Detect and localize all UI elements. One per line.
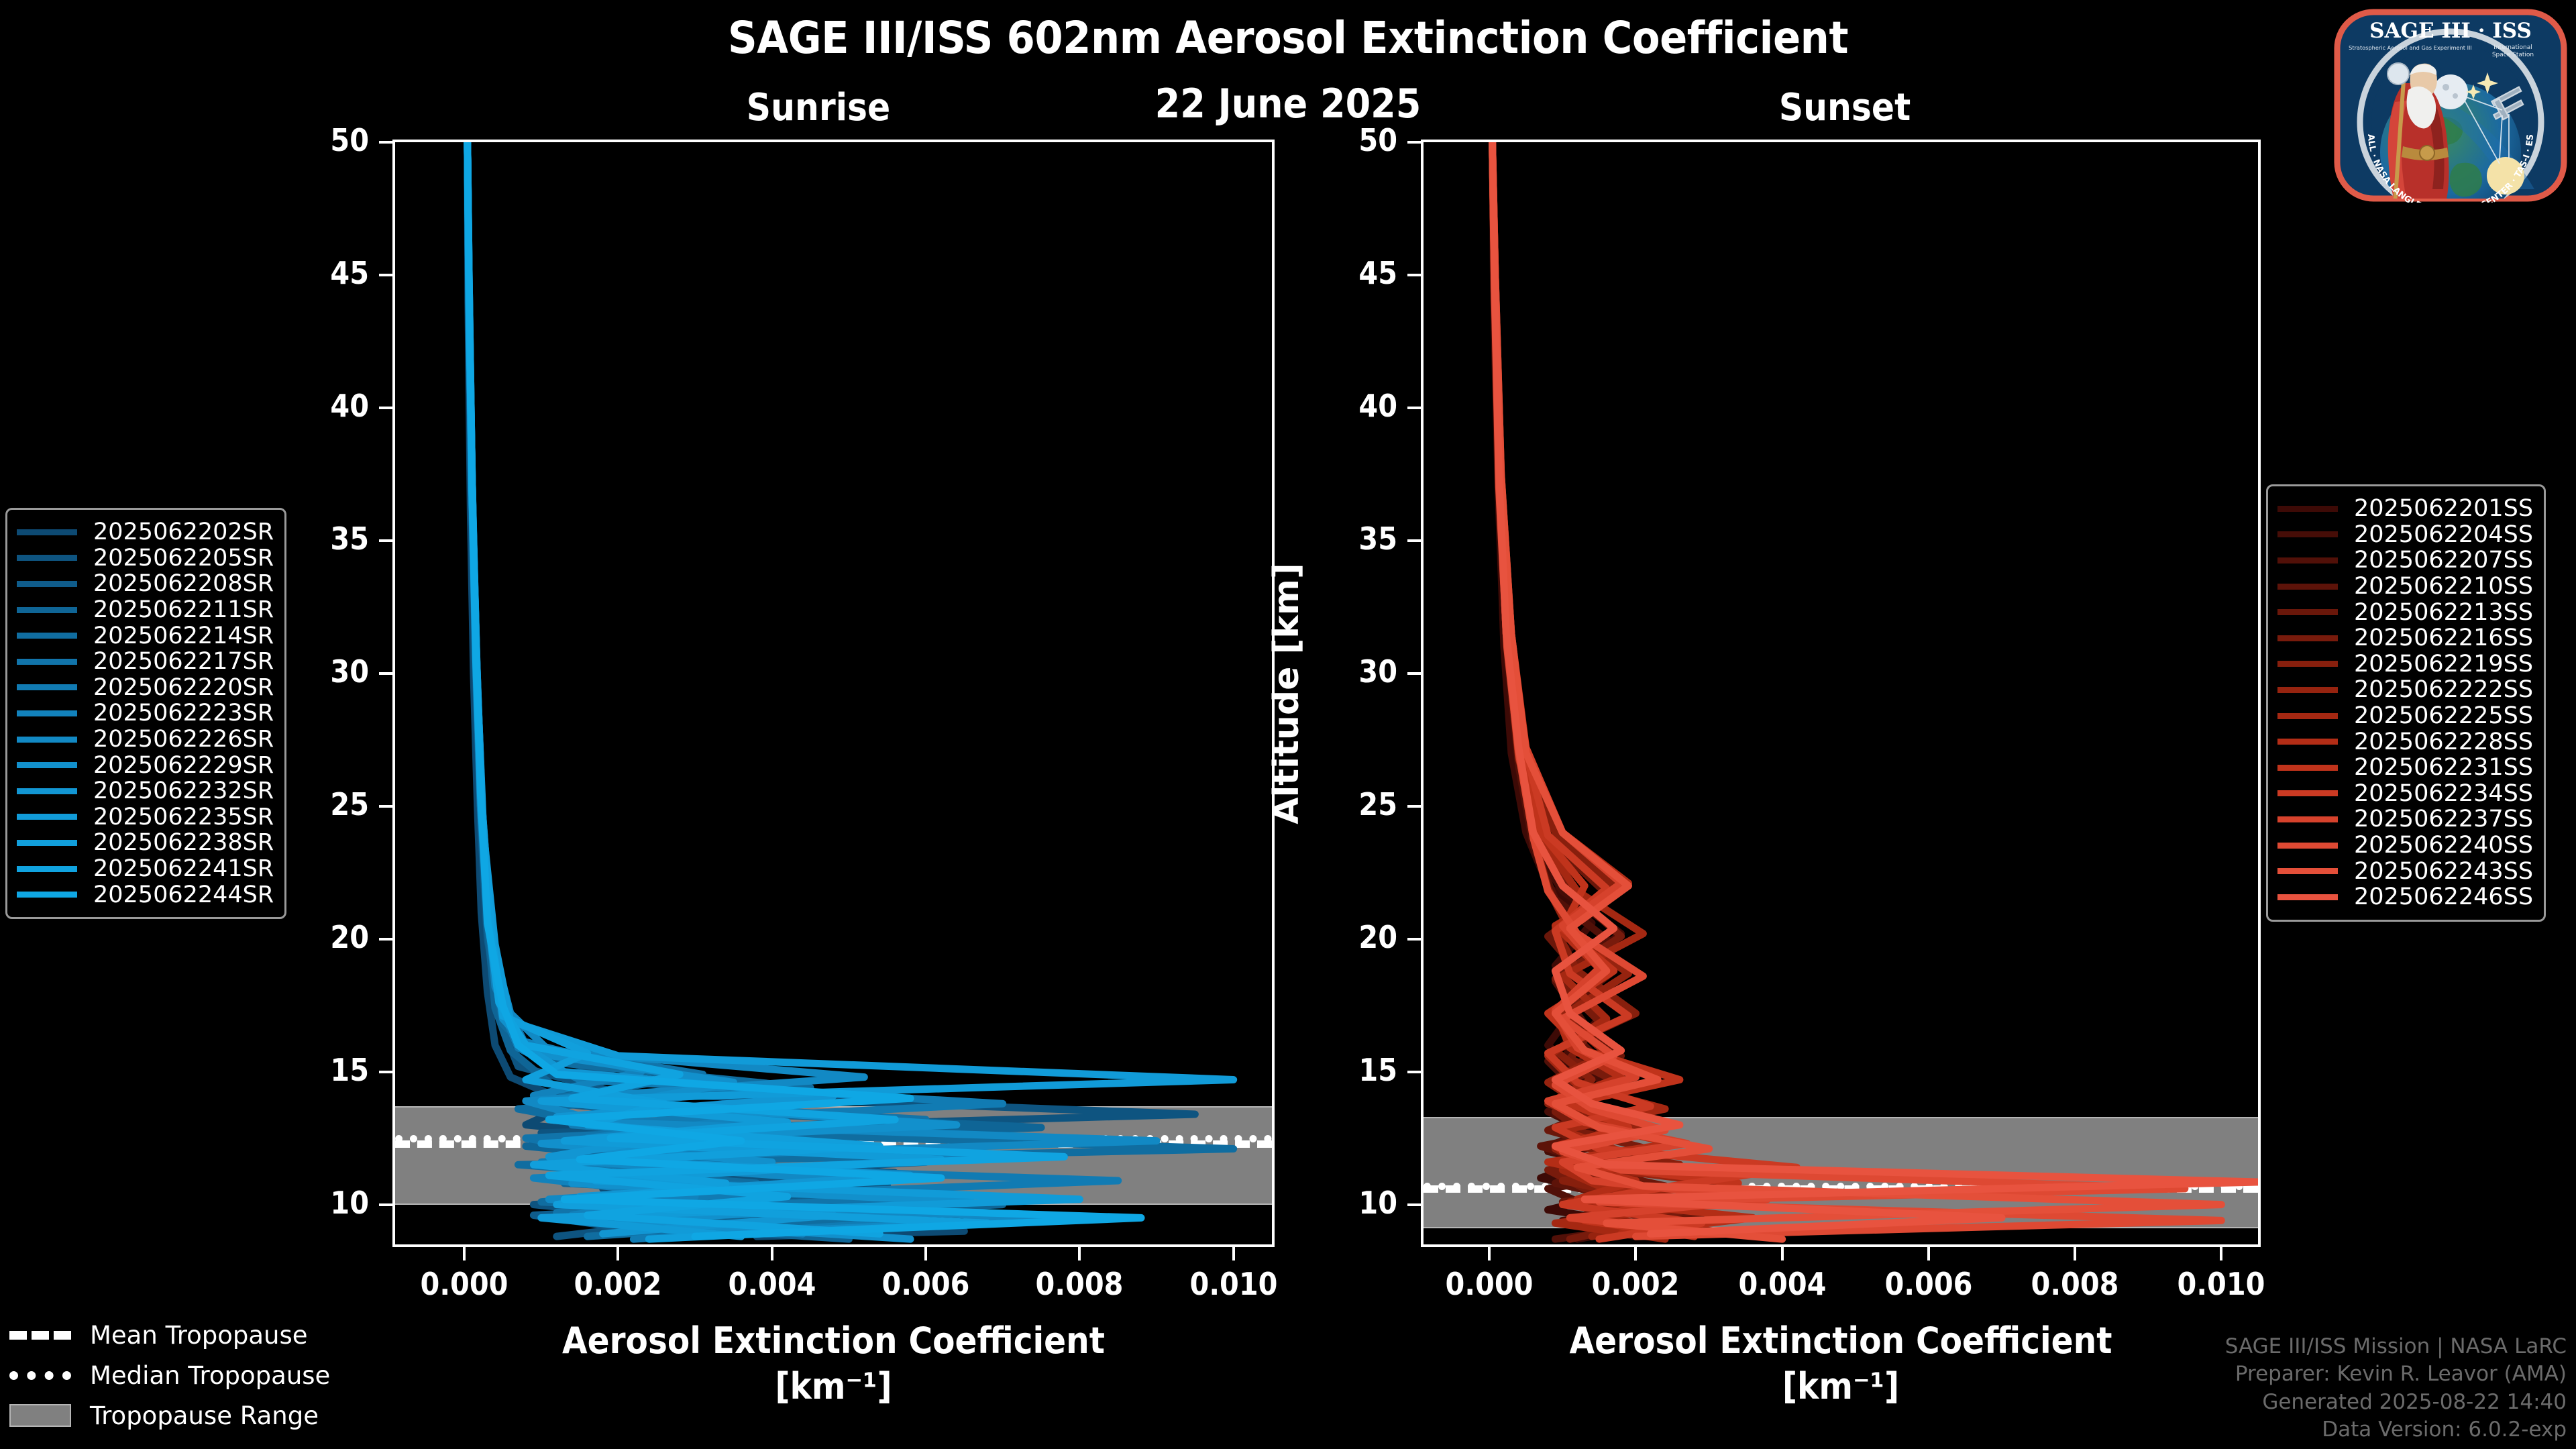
filled-band-icon [9,1404,71,1427]
y-axis-tick-label: 50 [1286,122,1398,158]
line-swatch-icon [2277,816,2338,822]
x-axis-label-sunrise: Aerosol Extinction Coefficient [437,1320,1231,1362]
line-swatch-icon [17,684,77,690]
legend-item-label: 2025062205SR [93,545,274,572]
legend-item-label: 2025062207SS [2354,547,2533,574]
footer-line-generated: Generated 2025-08-22 14:40 [2225,1389,2567,1416]
legend-entry-sunset-item[interactable]: 2025062231SS [2277,755,2533,781]
y-axis-label-sunset: Altitude [km] [1267,546,1307,841]
y-axis-tick [379,407,392,409]
y-axis-tick [1407,1203,1421,1206]
x-axis-tick-label: 0.002 [539,1266,696,1302]
line-swatch-icon [17,659,77,665]
legend-item-label: 2025062217SR [93,648,274,675]
y-axis-tick [1407,805,1421,808]
footer-attribution: SAGE III/ISS Mission | NASA LaRC Prepare… [2225,1333,2567,1444]
legend-entry-sunset-item[interactable]: 2025062240SS [2277,833,2533,859]
line-swatch-icon [2277,868,2338,874]
x-axis-tick-label: 0.000 [386,1266,543,1302]
legend-entry-sunset-item[interactable]: 2025062210SS [2277,574,2533,600]
line-swatch-icon [17,814,77,820]
y-axis-tick [379,805,392,808]
y-axis-tick-label: 15 [258,1052,370,1088]
legend-item-label: 2025062229SR [93,752,274,779]
x-axis-tick-label: 0.010 [1155,1266,1312,1302]
y-axis-tick-label: 45 [258,255,370,291]
y-axis-tick-label: 15 [1286,1052,1398,1088]
y-axis-tick [379,539,392,542]
x-axis-tick [1078,1247,1081,1260]
line-swatch-icon [2277,843,2338,849]
x-axis-tick-label: 0.006 [1850,1266,2007,1302]
line-swatch-icon [17,581,77,587]
line-swatch-icon [17,555,77,561]
x-axis-tick [771,1247,773,1260]
line-swatch-icon [2277,531,2338,537]
legend-item-label: 2025062234SS [2354,780,2533,807]
line-swatch-icon [2277,894,2338,900]
legend-item-label: 2025062211SR [93,596,274,623]
footer-line-data-version: Data Version: 6.0.2-exp [2225,1416,2567,1444]
dotted-line-icon [9,1371,71,1380]
y-axis-tick-label: 10 [258,1185,370,1221]
legend-item-label: 2025062210SS [2354,573,2533,600]
y-axis-tick [379,141,392,144]
legend-entry-sunset-item[interactable]: 2025062201SS [2277,496,2533,522]
x-axis-tick-label: 0.000 [1411,1266,1568,1302]
legend-entry-sunset-item[interactable]: 2025062207SS [2277,547,2533,574]
legend-entry-sunset-item[interactable]: 2025062234SS [2277,781,2533,807]
patch-subtitle-left: Stratospheric Aerosol and Gas Experiment… [2349,44,2472,51]
y-axis-tick-label: 20 [258,919,370,955]
line-swatch-icon [17,737,77,743]
y-axis-tick [379,672,392,675]
line-swatch-icon [17,529,77,535]
line-swatch-icon [2277,739,2338,745]
x-axis-tick-label: 0.004 [1704,1266,1861,1302]
legend-entry-sunrise-item[interactable]: 2025062214SR [17,623,274,649]
legend-item-label: 2025062216SS [2354,625,2533,651]
legend-entry-sunrise-item[interactable]: 2025062238SR [17,830,274,856]
legend-entry-sunrise-item[interactable]: 2025062208SR [17,571,274,597]
legend-entry-sunrise-item[interactable]: 2025062223SR [17,700,274,727]
legend-item-label: 2025062201SS [2354,495,2533,522]
legend-item-label: 2025062244SR [93,881,274,908]
line-swatch-icon [17,710,77,716]
legend-item-label: 2025062228SS [2354,729,2533,755]
y-axis-tick [1407,274,1421,276]
x-axis-tick [1232,1247,1235,1260]
line-swatch-icon [17,788,77,794]
y-axis-tick [1407,141,1421,144]
line-swatch-icon [2277,635,2338,641]
y-axis-tick-label: 20 [1286,919,1398,955]
legend-item-label: Tropopause Range [90,1401,319,1430]
legend-item-tropopause-range: Tropopause Range [9,1395,330,1436]
patch-subtitle-right-1: International [2493,44,2532,51]
legend-entry-sunset-item[interactable]: 2025062225SS [2277,703,2533,729]
line-swatch-icon [2277,687,2338,693]
line-swatch-icon [2277,790,2338,796]
sage-iii-iss-mission-patch-logo: SAGE III · ISS Stratospheric Aerosol and… [2333,8,2568,203]
legend-entry-sunrise-item[interactable]: 2025062241SR [17,856,274,882]
y-axis-tick [379,1203,392,1206]
legend-entry-sunrise-item[interactable]: 2025062244SR [17,881,274,908]
x-axis-units-sunset: [km⁻¹] [1463,1365,2219,1407]
line-swatch-icon [17,607,77,613]
legend-item-label: 2025062243SS [2354,858,2533,885]
line-swatch-icon [2277,713,2338,719]
legend-entry-sunset-item[interactable]: 2025062243SS [2277,858,2533,884]
legend-item-label: 2025062238SR [93,829,274,856]
x-axis-tick [2074,1247,2076,1260]
x-axis-tick-label: 0.004 [694,1266,851,1302]
y-axis-tick [1407,938,1421,941]
x-axis-tick [1634,1247,1637,1260]
line-swatch-icon [2277,584,2338,590]
patch-title: SAGE III · ISS [2369,19,2532,43]
legend-entry-sunset-item[interactable]: 2025062216SS [2277,625,2533,651]
y-axis-tick [379,274,392,276]
legend-item-label: 2025062235SR [93,804,274,830]
legend-entry-sunrise-item[interactable]: 2025062202SR [17,519,274,545]
series-lines-sunrise [395,142,1272,1244]
x-axis-tick-label: 0.006 [847,1266,1004,1302]
legend-item-label: 2025062225SS [2354,702,2533,729]
legend-entry-sunrise-item[interactable]: 2025062232SR [17,778,274,804]
panel-title-sunrise: Sunrise [607,86,1030,129]
legend-sunset[interactable]: 2025062201SS2025062204SS2025062207SS2025… [2266,484,2546,922]
legend-entry-sunset-item[interactable]: 2025062219SS [2277,651,2533,678]
legend-item-label: 2025062219SS [2354,651,2533,678]
legend-tropopause: Mean Tropopause Median Tropopause Tropop… [9,1315,330,1436]
line-swatch-icon [17,892,77,898]
x-axis-units-sunrise: [km⁻¹] [437,1365,1231,1407]
mission-patch-icon: SAGE III · ISS Stratospheric Aerosol and… [2333,8,2568,203]
x-axis-tick [616,1247,619,1260]
legend-entry-sunset-item[interactable]: 2025062222SS [2277,677,2533,703]
legend-item-label: 2025062202SR [93,519,274,545]
y-axis-tick-label: 50 [258,122,370,158]
legend-entry-sunset-item[interactable]: 2025062246SS [2277,884,2533,910]
legend-entry-sunset-item[interactable]: 2025062204SS [2277,522,2533,548]
x-axis-label-sunset: Aerosol Extinction Coefficient [1463,1320,2219,1362]
patch-subtitle-right-2: Space Station [2492,52,2534,58]
legend-entry-sunrise-item[interactable]: 2025062211SR [17,597,274,623]
legend-item-label: 2025062246SS [2354,883,2533,910]
legend-entry-sunset-item[interactable]: 2025062228SS [2277,729,2533,755]
figure-subtitle: 22 June 2025 [129,80,2447,127]
legend-item-label: Mean Tropopause [90,1321,308,1350]
x-axis-tick [2220,1247,2222,1260]
x-axis-tick [1927,1247,1930,1260]
x-axis-tick-label: 0.008 [1001,1266,1158,1302]
legend-item-mean-tropopause: Mean Tropopause [9,1315,330,1355]
y-axis-tick-label: 45 [1286,255,1398,291]
plot-area-sunset [1421,140,2261,1247]
legend-item-label: 2025062237SS [2354,806,2533,833]
y-axis-tick [1407,407,1421,409]
legend-entry-sunrise-item[interactable]: 2025062220SR [17,675,274,701]
line-swatch-icon [2277,765,2338,771]
legend-entry-sunrise-item[interactable]: 2025062226SR [17,727,274,753]
footer-line-preparer: Preparer: Kevin R. Leavor (AMA) [2225,1360,2567,1388]
footer-line-mission: SAGE III/ISS Mission | NASA LaRC [2225,1333,2567,1360]
legend-entry-sunset-item[interactable]: 2025062213SS [2277,599,2533,625]
legend-item-label: 2025062222SS [2354,676,2533,703]
legend-item-label: 2025062226SR [93,726,274,753]
legend-item-label: Median Tropopause [90,1361,330,1390]
page-title: SAGE III/ISS 602nm Aerosol Extinction Co… [103,12,2473,64]
legend-item-label: 2025062231SS [2354,754,2533,781]
line-swatch-icon [2277,506,2338,512]
legend-entry-sunrise-item[interactable]: 2025062205SR [17,545,274,572]
dashed-line-icon [9,1331,71,1340]
legend-item-label: 2025062220SR [93,674,274,701]
legend-item-label: 2025062232SR [93,777,274,804]
panel-title-sunset: Sunset [1633,86,2056,129]
x-axis-tick [924,1247,927,1260]
legend-item-median-tropopause: Median Tropopause [9,1355,330,1395]
line-swatch-icon [17,840,77,846]
x-axis-tick-label: 0.008 [1996,1266,2153,1302]
y-axis-tick [379,938,392,941]
y-axis-tick-label: 40 [1286,388,1398,424]
x-axis-tick-label: 0.002 [1557,1266,1714,1302]
y-axis-tick [1407,539,1421,542]
line-swatch-icon [2277,557,2338,563]
line-swatch-icon [17,762,77,768]
legend-item-label: 2025062204SS [2354,521,2533,548]
y-axis-tick-label: 10 [1286,1185,1398,1221]
x-axis-tick-label: 0.010 [2143,1266,2300,1302]
legend-entry-sunrise-item[interactable]: 2025062235SR [17,804,274,830]
figure-canvas: SAGE III/ISS 602nm Aerosol Extinction Co… [0,0,2576,1449]
line-swatch-icon [17,866,77,872]
line-swatch-icon [17,633,77,639]
y-axis-tick [1407,672,1421,675]
x-axis-tick [1488,1247,1491,1260]
legend-item-label: 2025062214SR [93,623,274,649]
legend-entry-sunrise-item[interactable]: 2025062229SR [17,752,274,778]
x-axis-tick [1781,1247,1784,1260]
legend-entry-sunset-item[interactable]: 2025062237SS [2277,806,2533,833]
legend-item-label: 2025062213SS [2354,599,2533,626]
y-axis-tick [1407,1071,1421,1073]
legend-item-label: 2025062241SR [93,855,274,882]
legend-item-label: 2025062223SR [93,700,274,727]
legend-item-label: 2025062208SR [93,570,274,597]
y-axis-tick-label: 40 [258,388,370,424]
legend-entry-sunrise-item[interactable]: 2025062217SR [17,649,274,675]
x-axis-tick [463,1247,466,1260]
legend-sunrise[interactable]: 2025062202SR2025062205SR2025062208SR2025… [5,508,286,919]
y-axis-tick [379,1071,392,1073]
line-swatch-icon [2277,609,2338,615]
series-line [468,142,987,1239]
legend-item-label: 2025062240SS [2354,832,2533,859]
series-lines-sunset [1424,142,2258,1244]
line-swatch-icon [2277,661,2338,667]
plot-area-sunrise [392,140,1275,1247]
